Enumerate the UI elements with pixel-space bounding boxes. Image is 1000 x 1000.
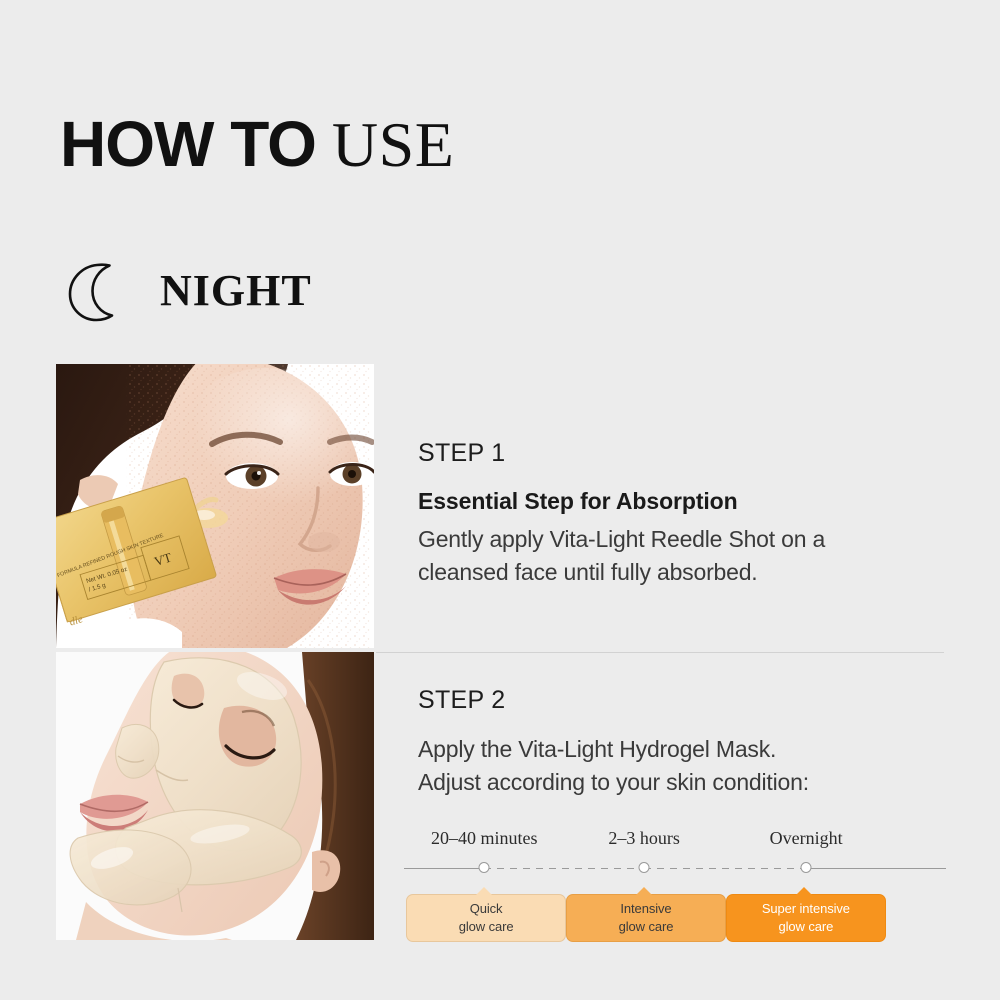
- step-2-block: STEP 2 Apply the Vita-Light Hydrogel Mas…: [418, 685, 938, 800]
- timeline-card-intensive-line-2: glow care: [619, 918, 674, 936]
- timeline-marker-2[interactable]: [639, 862, 650, 873]
- timeline-cards: Quick glow care Intensive glow care Supe…: [404, 886, 946, 942]
- timeline-card-super-line-1: Super intensive: [762, 900, 850, 918]
- timeline-card-intensive-line-1: Intensive: [620, 900, 671, 918]
- timeline-label-2: 2–3 hours: [608, 828, 680, 849]
- step-2-body-line-1: Apply the Vita-Light Hydrogel Mask.: [418, 733, 938, 766]
- step-1-photo: VT Net Wt. 0.05 oz / 1.5 g FORMULA REFIN…: [56, 364, 374, 648]
- timeline-labels: 20–40 minutes 2–3 hours Overnight: [404, 828, 946, 854]
- timeline-marker-1[interactable]: [479, 862, 490, 873]
- timeline-card-quick-line-2: glow care: [459, 918, 514, 936]
- timeline-label-3: Overnight: [770, 828, 843, 849]
- duration-timeline: 20–40 minutes 2–3 hours Overnight Quick …: [404, 828, 946, 943]
- timeline-marker-3[interactable]: [801, 862, 812, 873]
- timeline-card-super-line-2: glow care: [779, 918, 834, 936]
- section-label-night: NIGHT: [160, 269, 312, 313]
- timeline-card-intensive[interactable]: Intensive glow care: [566, 894, 726, 942]
- crescent-moon-icon: [64, 258, 130, 324]
- timeline-card-super-intensive[interactable]: Super intensive glow care: [726, 894, 886, 942]
- timeline-card-quick[interactable]: Quick glow care: [406, 894, 566, 942]
- how-to-use-page: HOW TO USE NIGHT: [0, 0, 1000, 1000]
- timeline-segment-start: [404, 868, 484, 869]
- step-1-number: STEP 1: [418, 438, 938, 468]
- step-2-body-line-2: Adjust according to your skin condition:: [418, 766, 938, 799]
- timeline-segment-end: [806, 868, 946, 869]
- timeline-axis: [404, 868, 946, 870]
- timeline-card-quick-line-1: Quick: [470, 900, 503, 918]
- step-1-body-line-2: cleansed face until fully absorbed.: [418, 556, 938, 589]
- step-2-photo: [56, 652, 374, 940]
- card-pointer-icon: [635, 887, 653, 896]
- card-pointer-icon: [795, 887, 813, 896]
- step-1-body: Gently apply Vita-Light Reedle Shot on a…: [418, 523, 938, 590]
- timeline-segment-dashed-2: [644, 868, 806, 869]
- section-header-night: NIGHT: [64, 258, 312, 324]
- timeline-label-1: 20–40 minutes: [431, 828, 538, 849]
- card-pointer-icon: [475, 887, 493, 896]
- page-title-bold: HOW TO: [60, 112, 316, 176]
- step-2-body: Apply the Vita-Light Hydrogel Mask. Adju…: [418, 733, 938, 800]
- timeline-segment-dashed-1: [484, 868, 644, 869]
- step-1-block: STEP 1 Essential Step for Absorption Gen…: [418, 438, 938, 590]
- page-title-serif: USE: [332, 113, 454, 177]
- step-1-body-line-1: Gently apply Vita-Light Reedle Shot on a: [418, 523, 938, 556]
- step-2-number: STEP 2: [418, 685, 938, 715]
- step-1-heading: Essential Step for Absorption: [418, 486, 938, 517]
- steps-divider: [376, 652, 944, 653]
- page-title: HOW TO USE: [60, 112, 454, 177]
